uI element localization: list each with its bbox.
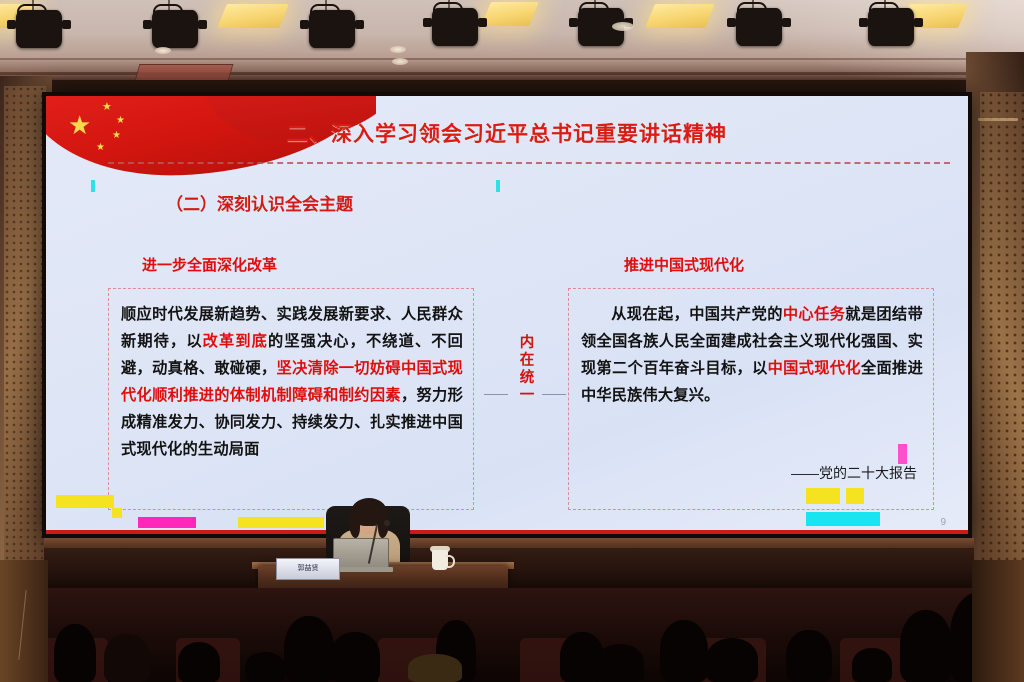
right-acoustic-panel xyxy=(980,92,1024,592)
accent-tick-icon xyxy=(91,180,95,192)
left-acoustic-panel xyxy=(4,86,46,586)
connector-line-left xyxy=(484,394,508,395)
nameplate-text: 郭喆贤 xyxy=(277,559,339,579)
decor-chip xyxy=(138,517,196,528)
conference-hall-scene: ★ ★ ★ ★ ★ 二、深入学习领会习近平总书记重要讲话精神 （二）深刻认识全会… xyxy=(0,0,1024,682)
decor-chip xyxy=(238,517,324,528)
audience-head xyxy=(104,634,150,682)
left-column-body: 顺应时代发展新趋势、实践发展新要求、人民群众新期待，以改革到底的坚强决心，不绕道… xyxy=(121,301,463,463)
right-content-box: 从现在起，中国共产党的中心任务就是团结带领全国各族人民全面建成社会主义现代化强国… xyxy=(568,288,934,510)
stage-spotlight xyxy=(152,10,198,48)
ceiling-panel-light xyxy=(481,2,539,26)
audience-head xyxy=(706,638,758,682)
audience-head xyxy=(660,620,708,682)
slide-subheading: （二）深刻认识全会主题 xyxy=(166,190,353,215)
recessed-downlight xyxy=(612,22,634,31)
citation: ——党的二十大报告 xyxy=(791,463,917,483)
presentation-slide: ★ ★ ★ ★ ★ 二、深入学习领会习近平总书记重要讲话精神 （二）深刻认识全会… xyxy=(46,96,968,534)
text-run: 从现在起，中国共产党的 xyxy=(611,306,783,323)
connector-group: 内在统一 xyxy=(484,326,566,466)
ceiling-seam xyxy=(0,58,1024,60)
audience-head xyxy=(408,654,462,682)
slide-page-number: 9 xyxy=(940,517,946,528)
connector-line-right xyxy=(542,394,566,395)
right-column-body: 从现在起，中国共产党的中心任务就是团结带领全国各族人民全面建成社会主义现代化强国… xyxy=(581,301,923,409)
audience-head xyxy=(245,652,285,682)
audience-head xyxy=(786,630,832,682)
decor-chip xyxy=(846,488,864,504)
stage-spotlight xyxy=(736,8,782,46)
text-run-emphasis: 改革到底 xyxy=(203,333,268,350)
laptop-screen xyxy=(333,538,389,570)
audience-head xyxy=(852,648,892,682)
hall-side-column xyxy=(972,560,1024,682)
recessed-downlight xyxy=(390,46,406,53)
ceiling-panel-light xyxy=(645,4,715,28)
audience-head xyxy=(900,610,952,682)
stage-spotlight xyxy=(309,10,355,48)
ceiling xyxy=(0,0,1024,80)
speaker-nameplate: 郭喆贤 xyxy=(276,558,340,580)
right-column-heading: 推进中国式现代化 xyxy=(624,254,744,275)
left-content-box: 顺应时代发展新趋势、实践发展新要求、人民群众新期待，以改革到底的坚强决心，不绕道… xyxy=(108,288,474,510)
left-column-heading: 进一步全面深化改革 xyxy=(142,254,277,275)
text-run-emphasis: 中心任务 xyxy=(783,306,845,323)
connector-label: 内在统一 xyxy=(515,334,536,404)
recessed-downlight xyxy=(392,58,408,65)
accent-tick-icon xyxy=(496,180,500,192)
recessed-downlight xyxy=(155,47,171,54)
audience-head xyxy=(54,624,96,682)
decor-chip xyxy=(112,508,122,518)
stage-spotlight xyxy=(868,8,914,46)
hall-side-column xyxy=(0,560,48,682)
stage-spotlight xyxy=(16,10,62,48)
decor-chip xyxy=(898,444,907,464)
slide-title: 二、深入学习领会习近平总书记重要讲话精神 xyxy=(46,118,968,148)
speaker-hair-left xyxy=(349,512,360,538)
stage-edge xyxy=(44,538,974,548)
audience-head xyxy=(178,642,220,682)
audience-head xyxy=(284,616,334,682)
projection-screen-frame: ★ ★ ★ ★ ★ 二、深入学习领会习近平总书记重要讲话精神 （二）深刻认识全会… xyxy=(42,92,972,538)
title-divider xyxy=(108,162,950,164)
microphone-head xyxy=(384,520,390,526)
wall-rail xyxy=(978,118,1018,121)
audience-head xyxy=(596,644,644,682)
stage-spotlight xyxy=(432,8,478,46)
text-run-emphasis: 中国式现代化 xyxy=(768,360,861,377)
slide-baseline xyxy=(46,530,968,534)
decor-chip xyxy=(806,512,880,526)
ceiling-panel-light xyxy=(217,4,289,28)
decor-chip xyxy=(806,488,840,504)
audience-head xyxy=(330,632,380,682)
audience-area xyxy=(0,588,1024,682)
decor-chip xyxy=(56,495,114,508)
